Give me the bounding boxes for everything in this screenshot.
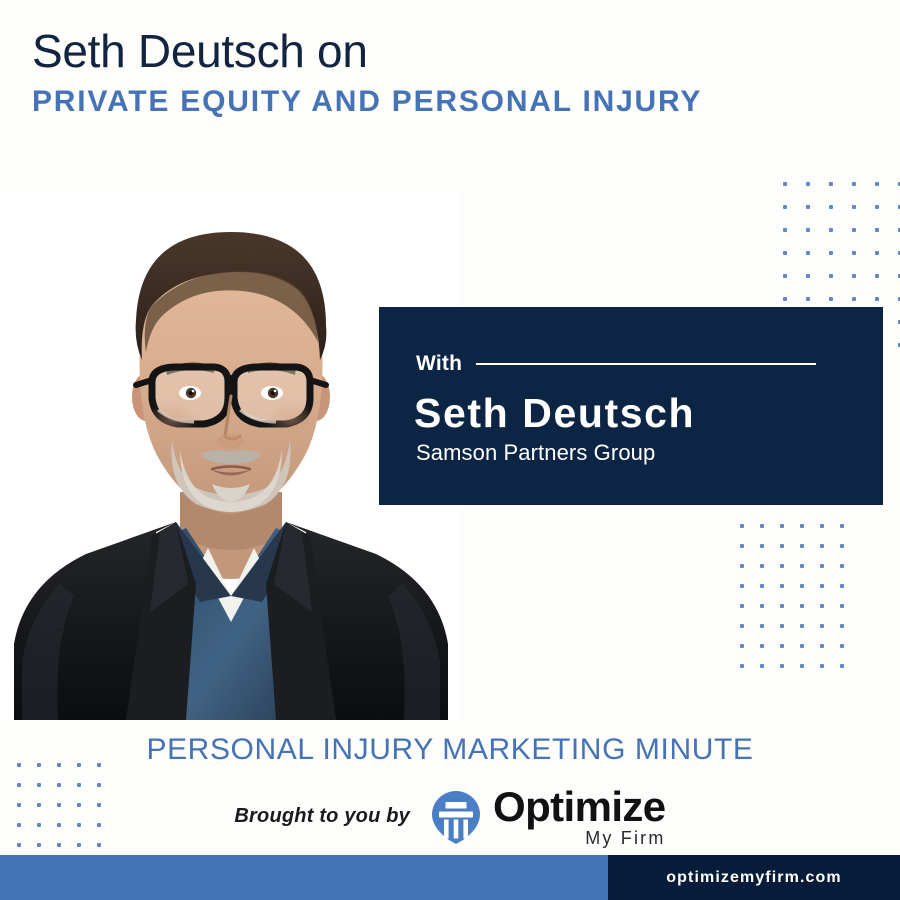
dot xyxy=(840,604,844,608)
dot xyxy=(875,274,879,278)
dot xyxy=(829,205,833,209)
dot xyxy=(783,251,787,255)
dot xyxy=(840,564,844,568)
dot xyxy=(780,604,784,608)
dot xyxy=(820,524,824,528)
dot-row xyxy=(740,524,860,544)
dot xyxy=(800,664,804,668)
website-url[interactable]: optimizemyfirm.com xyxy=(666,869,841,887)
dot xyxy=(840,524,844,528)
dot xyxy=(800,584,804,588)
dot xyxy=(783,228,787,232)
dot-row xyxy=(740,644,860,664)
page-subtitle: PRIVATE EQUITY AND PERSONAL INJURY xyxy=(32,85,852,118)
dot xyxy=(840,544,844,548)
dot-row xyxy=(783,274,900,297)
guest-name: Seth Deutsch xyxy=(414,390,695,437)
dot xyxy=(852,274,856,278)
dot-row xyxy=(740,604,860,624)
podcast-promo-graphic: Seth Deutsch on PRIVATE EQUITY AND PERSO… xyxy=(0,0,900,900)
bottom-bar-url-block: optimizemyfirm.com xyxy=(608,855,900,900)
dot xyxy=(829,182,833,186)
dot-row xyxy=(740,584,860,604)
dot xyxy=(829,297,833,301)
dot xyxy=(780,524,784,528)
optimize-my-firm-logo: Optimize My Firm xyxy=(493,786,666,847)
dot-row xyxy=(740,564,860,584)
dot xyxy=(875,228,879,232)
dot xyxy=(820,644,824,648)
dot xyxy=(806,182,810,186)
dot xyxy=(875,182,879,186)
bottom-bar: optimizemyfirm.com xyxy=(0,855,900,900)
dot xyxy=(800,624,804,628)
dot xyxy=(760,564,764,568)
dot xyxy=(840,624,844,628)
dot xyxy=(840,644,844,648)
dot-row xyxy=(740,664,860,684)
dot xyxy=(780,624,784,628)
dot xyxy=(806,251,810,255)
dot xyxy=(820,544,824,548)
dot xyxy=(783,182,787,186)
dot xyxy=(829,274,833,278)
dot xyxy=(852,205,856,209)
dot xyxy=(820,564,824,568)
dot-row xyxy=(783,205,900,228)
dot xyxy=(740,544,744,548)
dot xyxy=(740,524,744,528)
dot xyxy=(820,624,824,628)
dot xyxy=(760,544,764,548)
dot xyxy=(829,251,833,255)
sponsor-row: Brought to you by Optimize My Firm xyxy=(0,786,900,847)
dot xyxy=(783,274,787,278)
dot xyxy=(840,664,844,668)
dot xyxy=(783,297,787,301)
page-title: Seth Deutsch on xyxy=(32,26,852,77)
dot-row xyxy=(740,544,860,564)
dot xyxy=(875,251,879,255)
dot xyxy=(840,584,844,588)
dot xyxy=(740,664,744,668)
dot xyxy=(875,205,879,209)
dot xyxy=(820,584,824,588)
sponsor-label: Brought to you by xyxy=(234,805,410,828)
dot xyxy=(783,205,787,209)
dot xyxy=(760,644,764,648)
dot xyxy=(780,664,784,668)
with-row: With xyxy=(416,352,816,376)
with-divider-rule xyxy=(476,363,816,365)
dot-grid-mid-right-icon xyxy=(740,524,860,684)
dot-row xyxy=(783,251,900,274)
dot-row xyxy=(783,228,900,251)
dot xyxy=(780,544,784,548)
dot xyxy=(740,564,744,568)
dot xyxy=(852,182,856,186)
dot xyxy=(800,524,804,528)
dot xyxy=(780,564,784,568)
dot xyxy=(800,564,804,568)
bottom-bar-accent-block xyxy=(0,855,608,900)
dot xyxy=(760,584,764,588)
pillar-pin-icon xyxy=(428,789,484,845)
dot xyxy=(740,584,744,588)
dot xyxy=(806,297,810,301)
dot xyxy=(800,604,804,608)
dot xyxy=(760,664,764,668)
dot xyxy=(780,584,784,588)
guest-company: Samson Partners Group xyxy=(416,440,655,466)
logo-primary-text: Optimize xyxy=(493,786,666,828)
dot-row xyxy=(740,624,860,644)
dot xyxy=(760,624,764,628)
dot xyxy=(806,205,810,209)
dot xyxy=(780,644,784,648)
dot xyxy=(740,604,744,608)
guest-info-card: With Seth Deutsch Samson Partners Group xyxy=(379,307,883,505)
dot xyxy=(852,297,856,301)
dot xyxy=(760,524,764,528)
dot xyxy=(806,228,810,232)
dot xyxy=(875,297,879,301)
dot xyxy=(820,664,824,668)
dot xyxy=(820,604,824,608)
dot xyxy=(760,604,764,608)
with-label: With xyxy=(416,352,462,376)
dot xyxy=(806,274,810,278)
show-title: PERSONAL INJURY MARKETING MINUTE xyxy=(0,733,900,767)
dot xyxy=(740,644,744,648)
logo-secondary-text: My Firm xyxy=(493,829,666,847)
dot xyxy=(800,644,804,648)
dot xyxy=(852,228,856,232)
dot xyxy=(740,624,744,628)
headline-block: Seth Deutsch on PRIVATE EQUITY AND PERSO… xyxy=(32,26,852,118)
dot xyxy=(800,544,804,548)
dot-row xyxy=(783,182,900,205)
dot xyxy=(852,251,856,255)
dot xyxy=(829,228,833,232)
